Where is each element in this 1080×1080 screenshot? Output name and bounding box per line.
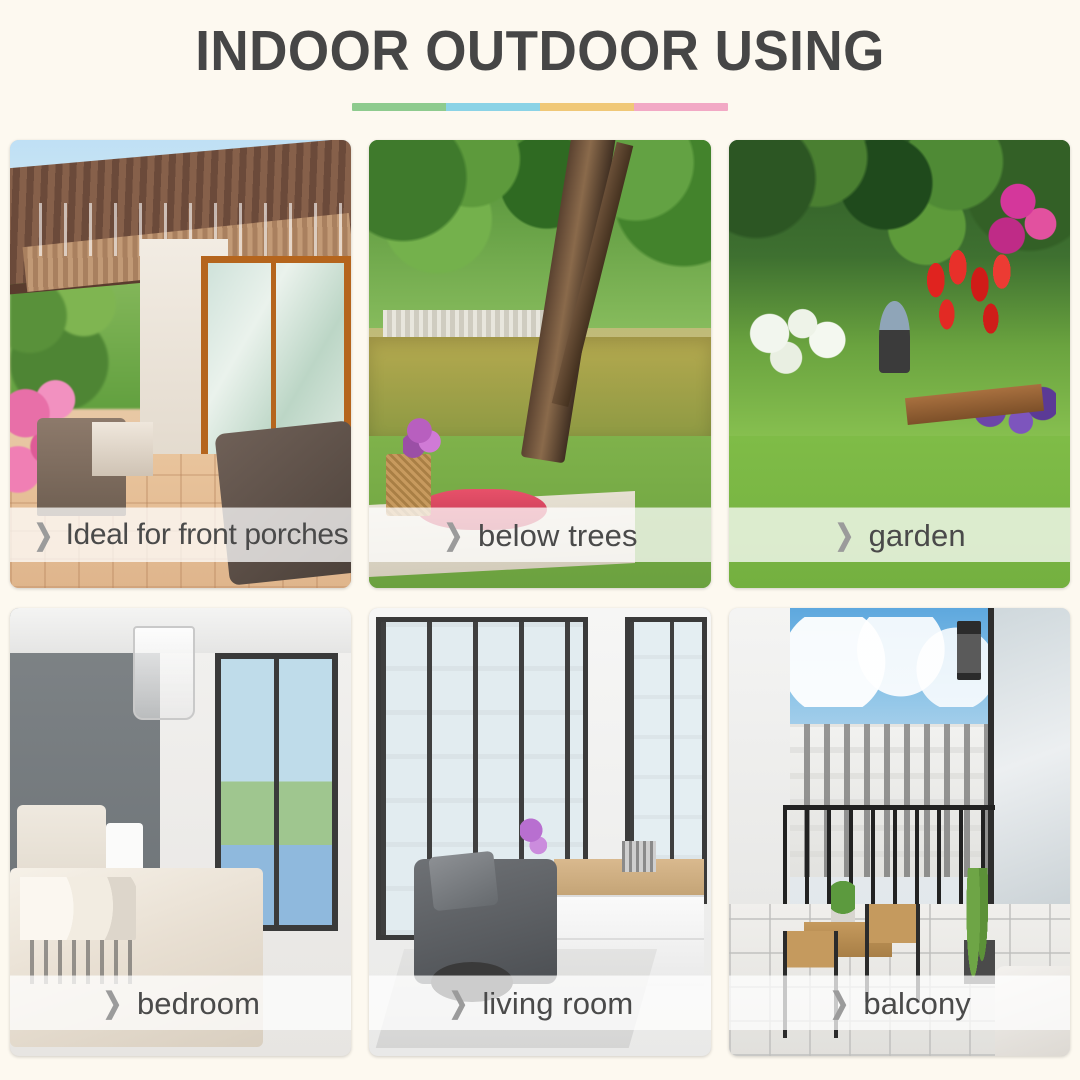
- caption-label: Ideal for front porches: [66, 520, 349, 550]
- scenario-card-garden[interactable]: ❯ garden: [729, 140, 1070, 588]
- scenario-card-below-trees[interactable]: ❯ below trees: [369, 140, 710, 588]
- caption-bar-front-porch: ❯ Ideal for front porches: [10, 508, 351, 562]
- divider-segment-green: [352, 103, 446, 111]
- caption-bar-living-room: ❯ living room: [369, 976, 710, 1030]
- caption-label: below trees: [478, 520, 638, 551]
- chevron-right-icon: ❯: [103, 989, 122, 1017]
- chevron-right-icon: ❯: [448, 989, 467, 1017]
- page-root: INDOOR OUTDOOR USING: [0, 0, 1080, 1080]
- caption-bar-bedroom: ❯ bedroom: [10, 976, 351, 1030]
- scenario-card-living-room[interactable]: ❯ living room: [369, 608, 710, 1056]
- caption-label: bedroom: [137, 988, 260, 1019]
- chevron-right-icon: ❯: [34, 521, 53, 549]
- caption-bar-balcony: ❯ balcony: [729, 976, 1070, 1030]
- caption-label: balcony: [863, 988, 971, 1019]
- scenario-card-balcony[interactable]: ❯ balcony: [729, 608, 1070, 1056]
- divider-segment-orange: [540, 103, 634, 111]
- usage-scenario-grid: ❯ Ideal for front porches: [10, 140, 1070, 1056]
- divider-segment-blue: [446, 103, 540, 111]
- chevron-right-icon: ❯: [829, 989, 848, 1017]
- caption-label: living room: [482, 988, 633, 1019]
- scenario-card-bedroom[interactable]: ❯ bedroom: [10, 608, 351, 1056]
- header: INDOOR OUTDOOR USING: [0, 0, 1080, 140]
- divider-segment-pink: [634, 103, 728, 111]
- chevron-right-icon: ❯: [835, 521, 854, 549]
- scenario-card-front-porch[interactable]: ❯ Ideal for front porches: [10, 140, 351, 588]
- title-divider-bar: [352, 103, 728, 111]
- caption-bar-garden: ❯ garden: [729, 508, 1070, 562]
- chevron-right-icon: ❯: [444, 521, 463, 549]
- page-title: INDOOR OUTDOOR USING: [38, 22, 1042, 82]
- caption-label: garden: [869, 520, 966, 551]
- caption-bar-below-trees: ❯ below trees: [369, 508, 710, 562]
